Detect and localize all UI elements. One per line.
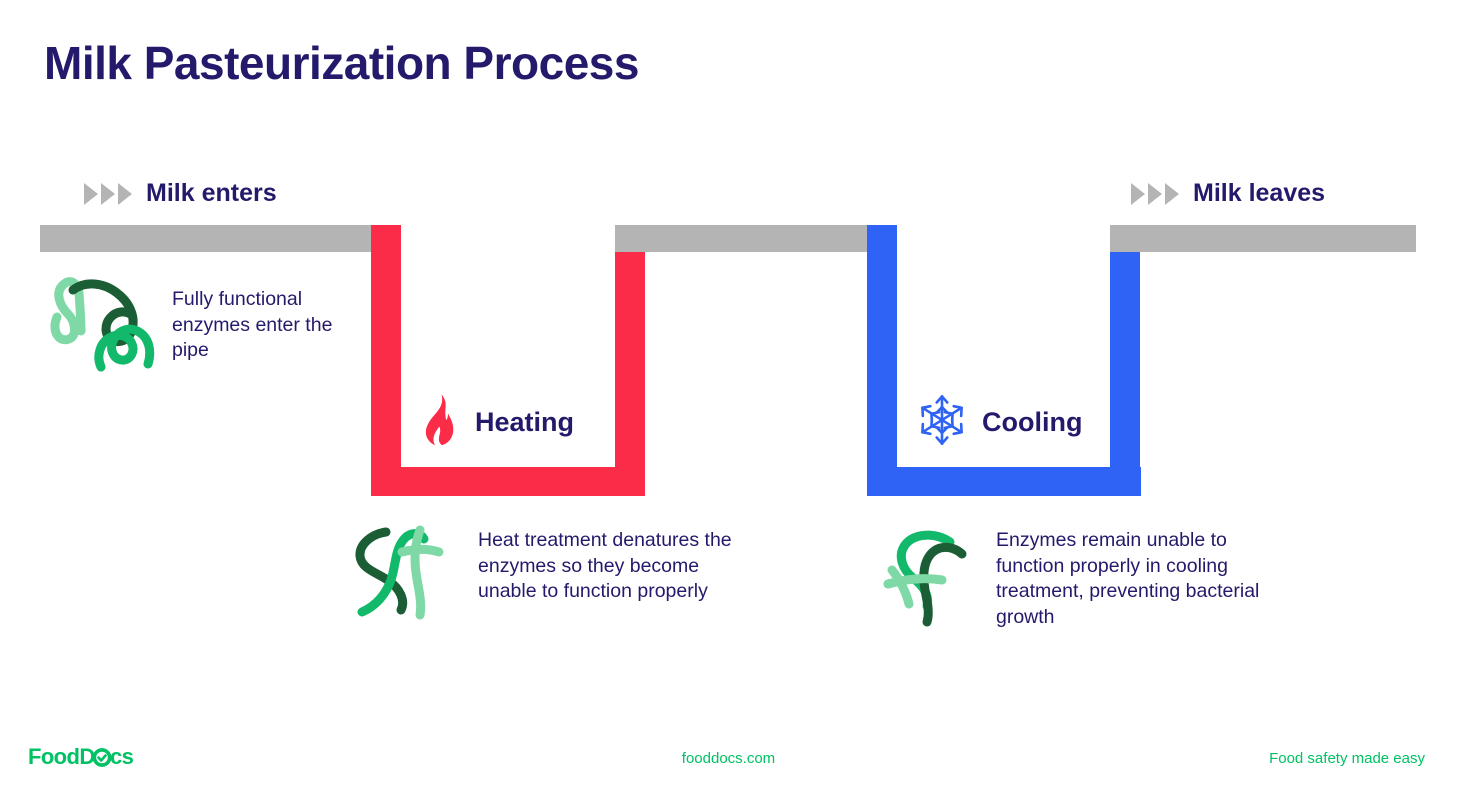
snowflake-icon — [916, 394, 968, 451]
infographic-canvas: Milk Pasteurization Process Milk enters … — [0, 0, 1457, 788]
note-enzymes-denatured-text: Heat treatment denatures the enzymes so … — [478, 528, 753, 605]
cooling-stage-label-group: Cooling — [916, 394, 1082, 451]
triple-arrow-right-icon — [84, 183, 132, 205]
heating-stage-label-group: Heating — [417, 394, 574, 451]
cooling-pipe-right-riser — [1110, 252, 1140, 496]
note-enzymes-enter-text: Fully functional enzymes enter the pipe — [172, 287, 372, 364]
footer-tagline: Food safety made easy — [1269, 750, 1425, 767]
pipe-segment-middle — [615, 225, 897, 252]
heating-pipe-right-riser — [615, 252, 645, 496]
cooling-stage-label: Cooling — [982, 409, 1082, 436]
heating-stage-label: Heating — [475, 409, 574, 436]
triple-arrow-right-icon — [1131, 183, 1179, 205]
footer-website[interactable]: fooddocs.com — [0, 750, 1457, 767]
pipe-segment-inlet — [40, 225, 371, 252]
flame-icon — [417, 394, 461, 451]
unraveled-enzyme-icon — [878, 518, 978, 633]
note-enzymes-cooling: Enzymes remain unable to function proper… — [878, 518, 1308, 633]
milk-leaves-label: Milk leaves — [1193, 181, 1325, 206]
cooling-pipe-bottom — [867, 467, 1141, 496]
unraveled-enzyme-icon — [348, 518, 460, 633]
note-enzymes-cooling-text: Enzymes remain unable to function proper… — [996, 528, 1276, 630]
note-enzymes-enter: Fully functional enzymes enter the pipe — [44, 272, 374, 382]
heating-pipe-bottom — [371, 467, 645, 496]
page-title: Milk Pasteurization Process — [44, 36, 639, 90]
milk-leaves-group: Milk leaves — [1131, 181, 1325, 206]
milk-enters-group: Milk enters — [84, 181, 277, 206]
milk-enters-label: Milk enters — [146, 181, 277, 206]
note-enzymes-denatured: Heat treatment denatures the enzymes so … — [348, 518, 768, 633]
pipe-segment-outlet — [1110, 225, 1416, 252]
tangled-enzyme-icon — [44, 272, 162, 382]
heating-pipe-left-riser — [371, 225, 401, 496]
cooling-pipe-left-riser — [867, 225, 897, 496]
